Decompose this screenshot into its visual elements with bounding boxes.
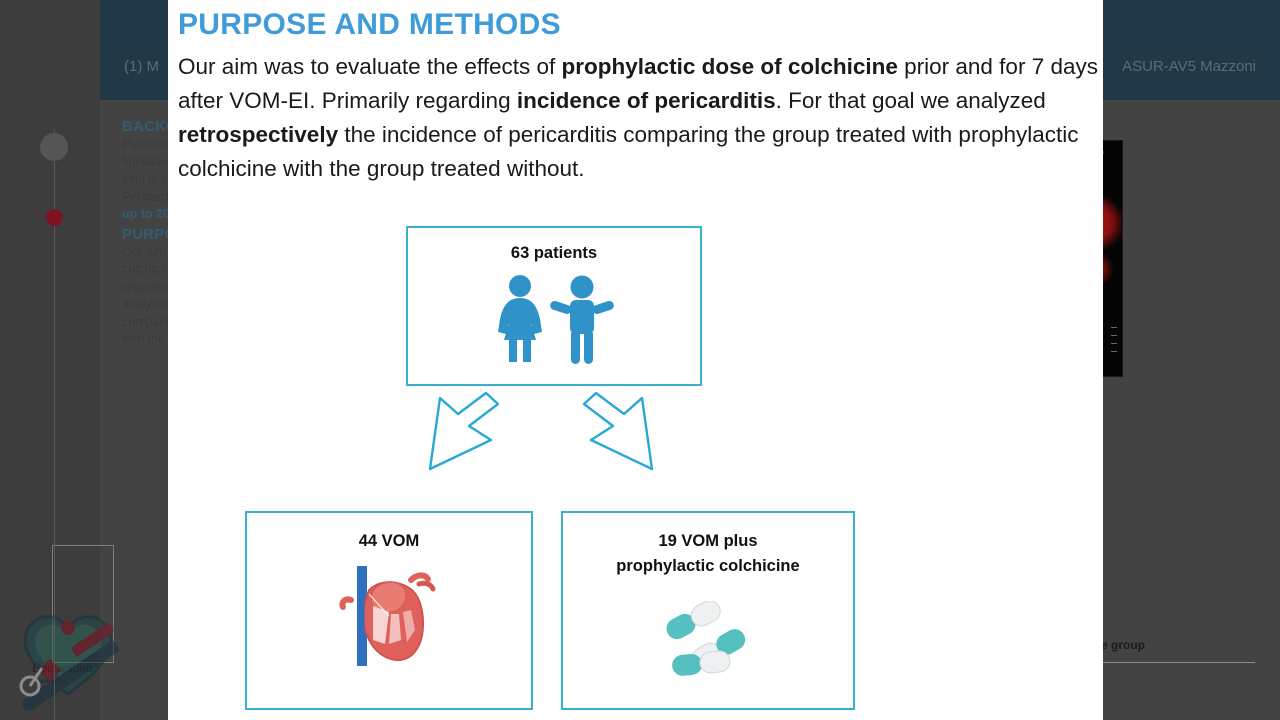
flow-box-vom-label: 44 VOM bbox=[359, 529, 420, 554]
echo-tick bbox=[1111, 351, 1117, 352]
arrow-down-right-icon bbox=[584, 393, 652, 469]
capsules-icon bbox=[656, 601, 760, 677]
slide-panel: PURPOSE AND METHODS Our aim was to evalu… bbox=[168, 0, 1103, 720]
echo-tick bbox=[1111, 327, 1117, 328]
timeline-dot-inactive[interactable] bbox=[40, 133, 68, 161]
flow-box-total-label: 63 patients bbox=[511, 241, 597, 266]
heart-anatomy-icon bbox=[329, 560, 449, 672]
flow-box-colchicine[interactable]: 19 VOM plus prophylactic colchicine bbox=[561, 511, 855, 710]
flow-box-colchicine-label: 19 VOM plus prophylactic colchicine bbox=[616, 529, 799, 579]
poster-header-left: (1) M bbox=[124, 58, 159, 75]
flow-box-total[interactable]: 63 patients bbox=[406, 226, 702, 386]
heart-logo-icon bbox=[8, 590, 128, 710]
timeline-dot-active[interactable] bbox=[46, 209, 63, 226]
flow-box-vom[interactable]: 44 VOM bbox=[245, 511, 533, 710]
echo-tick bbox=[1111, 343, 1117, 344]
flow-box-colchicine-line1: 19 VOM plus bbox=[658, 532, 757, 550]
echo-tick bbox=[1111, 335, 1117, 336]
flow-box-colchicine-line2: prophylactic colchicine bbox=[616, 557, 799, 575]
poster-header-right: ASUR-AV5 Mazzoni bbox=[1122, 58, 1256, 75]
people-icon bbox=[484, 274, 624, 366]
arrow-down-left-icon bbox=[430, 393, 498, 469]
flow-diagram: 63 patients bbox=[168, 0, 1103, 720]
